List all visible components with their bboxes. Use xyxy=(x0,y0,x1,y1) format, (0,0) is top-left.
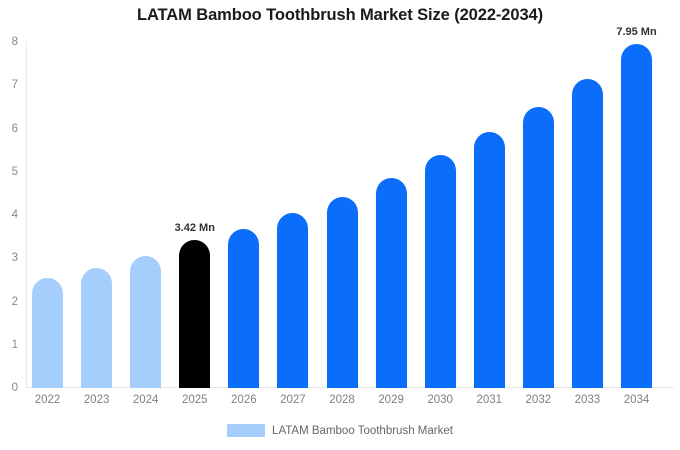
x-axis-tick-label-2032: 2032 xyxy=(526,394,552,406)
y-axis-tick-label: 7 xyxy=(12,79,18,91)
x-axis-tick-label-2027: 2027 xyxy=(280,394,306,406)
bar-value-label-2025: 3.42 Mn xyxy=(175,222,215,234)
bar-2034[interactable] xyxy=(621,44,652,388)
x-axis-tick-label-2029: 2029 xyxy=(378,394,404,406)
bar-2029[interactable] xyxy=(376,178,407,388)
legend-swatch-latam-bamboo-toothbrush-market xyxy=(227,424,265,437)
chart-title: LATAM Bamboo Toothbrush Market Size (202… xyxy=(0,6,680,25)
bar-2027[interactable] xyxy=(277,213,308,388)
y-axis-tick-label: 0 xyxy=(12,382,18,394)
y-axis-line xyxy=(26,42,27,388)
x-axis-tick-label-2024: 2024 xyxy=(133,394,159,406)
x-axis-tick-label-2030: 2030 xyxy=(427,394,453,406)
y-axis-tick-label: 2 xyxy=(12,296,18,308)
x-axis-tick-label-2026: 2026 xyxy=(231,394,257,406)
y-axis-tick-label: 3 xyxy=(12,252,18,264)
bar-chart: LATAM Bamboo Toothbrush Market Size (202… xyxy=(0,0,680,450)
x-axis-tick-label-2034: 2034 xyxy=(624,394,650,406)
plot-area: 012345678 3.42 Mn7.95 Mn xyxy=(26,42,674,388)
x-axis-tick-label-2031: 2031 xyxy=(476,394,502,406)
bar-2033[interactable] xyxy=(572,79,603,388)
x-axis-tick-label-2025: 2025 xyxy=(182,394,208,406)
x-axis-tick-label-2023: 2023 xyxy=(84,394,110,406)
bar-value-label-2034: 7.95 Mn xyxy=(616,26,656,38)
y-axis-tick-label: 4 xyxy=(12,209,18,221)
legend-label: LATAM Bamboo Toothbrush Market xyxy=(272,425,453,437)
y-axis-tick-label: 6 xyxy=(12,123,18,135)
bar-2026[interactable] xyxy=(228,229,259,388)
x-axis-tick-label-2033: 2033 xyxy=(575,394,601,406)
y-axis-tick-label: 8 xyxy=(12,36,18,48)
y-axis-tick-label: 1 xyxy=(12,339,18,351)
bar-2025[interactable] xyxy=(179,240,210,388)
bar-2022[interactable] xyxy=(32,278,63,388)
y-axis-tick-label: 5 xyxy=(12,166,18,178)
bar-2032[interactable] xyxy=(523,107,554,388)
x-axis-tick-label-2028: 2028 xyxy=(329,394,355,406)
bar-2023[interactable] xyxy=(81,268,112,388)
bar-2031[interactable] xyxy=(474,132,505,388)
bar-2030[interactable] xyxy=(425,155,456,388)
bar-2028[interactable] xyxy=(327,197,358,388)
x-axis-tick-label-2022: 2022 xyxy=(35,394,61,406)
chart-legend: LATAM Bamboo Toothbrush Market xyxy=(0,424,680,437)
bar-2024[interactable] xyxy=(130,256,161,388)
